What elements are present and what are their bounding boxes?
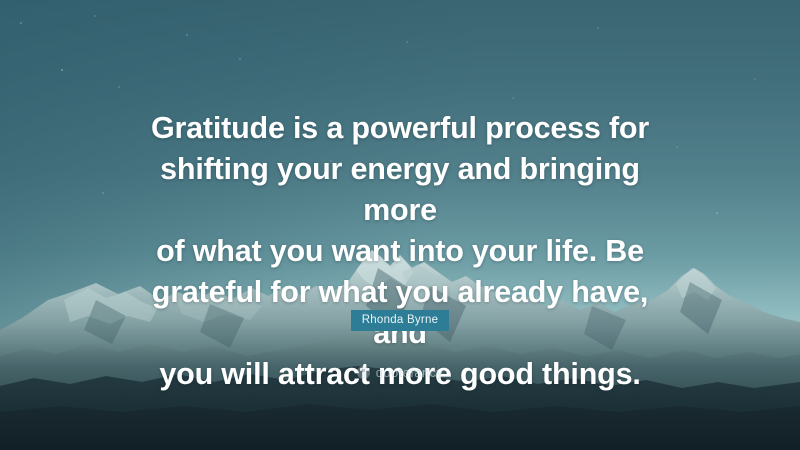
- author-badge: Rhonda Byrne: [351, 310, 450, 331]
- quote-text: Gratitude is a powerful process for shif…: [0, 108, 800, 395]
- author-row: Rhonda Byrne: [0, 310, 800, 331]
- quotefancy-watermark: “ quotefancy: [0, 365, 800, 380]
- quotefancy-brand-label: quotefancy: [376, 365, 444, 380]
- quote-mark-icon: “: [357, 366, 370, 379]
- quote-poster: Gratitude is a powerful process for shif…: [0, 0, 800, 450]
